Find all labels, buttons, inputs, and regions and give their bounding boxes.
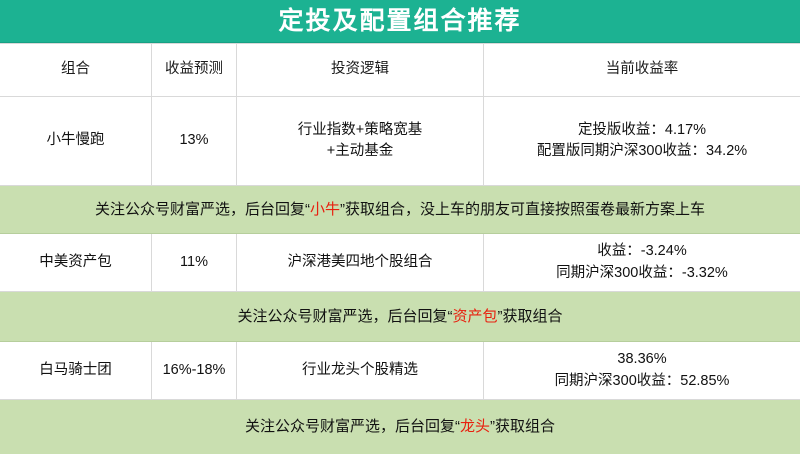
- table-header-row: 组合 收益预测 投资逻辑 当前收益率: [0, 44, 800, 97]
- promo-prefix: 关注公众号财富严选，后台回复“: [237, 306, 452, 328]
- cell-return: 收益：-3.24% 同期沪深300收益：-3.32%: [484, 234, 800, 291]
- recommendation-table-card: 定投及配置组合推荐 组合 收益预测 投资逻辑 当前收益率 小牛慢跑 13% 行业…: [0, 0, 800, 454]
- promo-suffix: ”获取组合: [490, 416, 555, 438]
- promo-banner-row: 关注公众号财富严选，后台回复“小牛”获取组合，没上车的朋友可直接按照蛋卷最新方案…: [0, 186, 800, 234]
- table-row: 白马骑士团 16%-18% 行业龙头个股精选 38.36% 同期沪深300收益：…: [0, 342, 800, 400]
- promo-banner-text: 关注公众号财富严选，后台回复“资产包”获取组合: [0, 292, 800, 341]
- cell-return-line-1: 38.36%: [617, 349, 666, 370]
- portfolio-table: 组合 收益预测 投资逻辑 当前收益率 小牛慢跑 13% 行业指数+策略宽基 +主…: [0, 43, 800, 454]
- cell-logic: 行业龙头个股精选: [237, 342, 484, 399]
- cell-return-line-2: 同期沪深300收益：52.85%: [555, 371, 730, 392]
- cell-forecast: 16%-18%: [152, 342, 237, 399]
- cell-return: 定投版收益：4.17% 配置版同期沪深300收益：34.2%: [484, 97, 800, 185]
- cell-forecast: 13%: [152, 97, 237, 185]
- table-row: 小牛慢跑 13% 行业指数+策略宽基 +主动基金 定投版收益：4.17% 配置版…: [0, 97, 800, 186]
- cell-logic: 沪深港美四地个股组合: [237, 234, 484, 291]
- cell-portfolio-name: 中美资产包: [0, 234, 152, 291]
- cell-return-line-2: 同期沪深300收益：-3.32%: [556, 263, 728, 284]
- column-header-return: 当前收益率: [484, 44, 800, 96]
- promo-banner-text: 关注公众号财富严选，后台回复“龙头”获取组合: [0, 400, 800, 454]
- promo-banner-row: 关注公众号财富严选，后台回复“资产包”获取组合: [0, 292, 800, 342]
- cell-return-line-1: 定投版收益：4.17%: [578, 120, 706, 141]
- promo-keyword: 资产包: [452, 306, 497, 328]
- cell-return: 38.36% 同期沪深300收益：52.85%: [484, 342, 800, 399]
- table-row: 中美资产包 11% 沪深港美四地个股组合 收益：-3.24% 同期沪深300收益…: [0, 234, 800, 292]
- column-header-logic: 投资逻辑: [237, 44, 484, 96]
- page-title-bar: 定投及配置组合推荐: [0, 0, 800, 43]
- cell-logic: 行业指数+策略宽基 +主动基金: [237, 97, 484, 185]
- promo-prefix: 关注公众号财富严选，后台回复“: [95, 199, 310, 221]
- cell-forecast: 11%: [152, 234, 237, 291]
- column-header-forecast: 收益预测: [152, 44, 237, 96]
- promo-keyword: 小牛: [310, 199, 340, 221]
- cell-logic-line-2: +主动基金: [327, 141, 393, 162]
- cell-return-line-2: 配置版同期沪深300收益：34.2%: [537, 141, 747, 162]
- cell-portfolio-name: 白马骑士团: [0, 342, 152, 399]
- cell-portfolio-name: 小牛慢跑: [0, 97, 152, 185]
- promo-suffix: ”获取组合: [498, 306, 563, 328]
- promo-suffix: ”获取组合，没上车的朋友可直接按照蛋卷最新方案上车: [340, 199, 705, 221]
- promo-banner-row: 关注公众号财富严选，后台回复“龙头”获取组合: [0, 400, 800, 454]
- cell-logic-line-1: 行业指数+策略宽基: [298, 120, 422, 141]
- promo-keyword: 龙头: [460, 416, 490, 438]
- promo-prefix: 关注公众号财富严选，后台回复“: [245, 416, 460, 438]
- cell-return-line-1: 收益：-3.24%: [597, 241, 686, 262]
- column-header-portfolio: 组合: [0, 44, 152, 96]
- page-title: 定投及配置组合推荐: [278, 9, 521, 34]
- promo-banner-text: 关注公众号财富严选，后台回复“小牛”获取组合，没上车的朋友可直接按照蛋卷最新方案…: [0, 186, 800, 233]
